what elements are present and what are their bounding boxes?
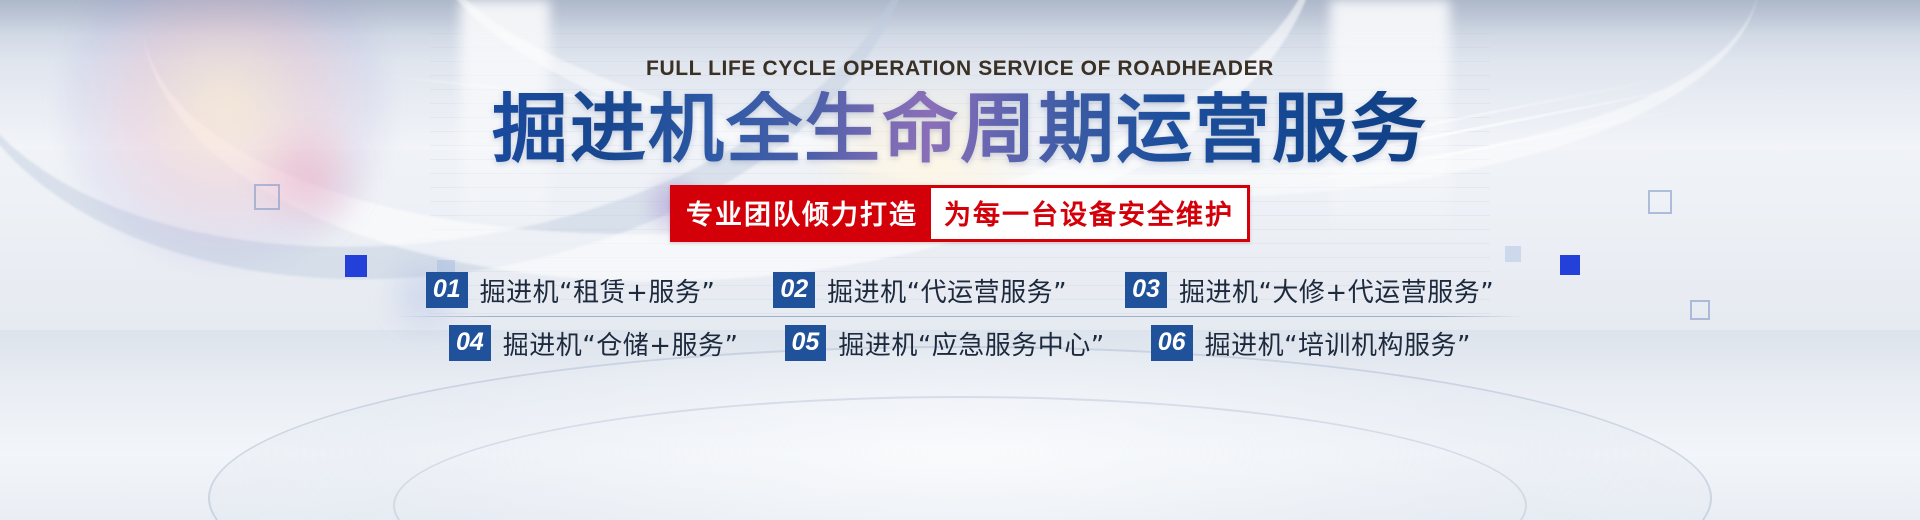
service-label-01: 掘进机“租赁+服务” bbox=[480, 272, 716, 309]
service-number-badge-04: 04 bbox=[449, 325, 491, 361]
banner-eyebrow-english: FULL LIFE CYCLE OPERATION SERVICE OF ROA… bbox=[646, 57, 1274, 81]
roadheader-service-banner: FULL LIFE CYCLE OPERATION SERVICE OF ROA… bbox=[0, 0, 1920, 520]
service-item-06[interactable]: 06 掘进机“培训机构服务” bbox=[1151, 325, 1471, 362]
service-label-06: 掘进机“培训机构服务” bbox=[1205, 325, 1471, 362]
slogan-right-text: 为每一台设备安全维护 bbox=[931, 188, 1247, 239]
service-number-badge-06: 06 bbox=[1151, 325, 1193, 361]
service-row-2: 04 掘进机“仓储+服务” 05 掘进机“应急服务中心” 06 掘进机“培训机构… bbox=[380, 317, 1540, 369]
service-label-03: 掘进机“大修+代运营服务” bbox=[1179, 272, 1494, 309]
slogan-left-text: 专业团队倾力打造 bbox=[673, 188, 931, 239]
banner-headline: 掘进机全生命周期运营服务 bbox=[492, 91, 1428, 167]
service-item-04[interactable]: 04 掘进机“仓储+服务” bbox=[449, 325, 739, 362]
service-item-01[interactable]: 01 掘进机“租赁+服务” bbox=[426, 272, 716, 309]
service-number-badge-05: 05 bbox=[785, 325, 827, 361]
slogan-bar: 专业团队倾力打造 为每一台设备安全维护 bbox=[670, 185, 1250, 242]
service-row-1: 01 掘进机“租赁+服务” 02 掘进机“代运营服务” 03 掘进机“大修+代运… bbox=[380, 264, 1540, 316]
service-label-05: 掘进机“应急服务中心” bbox=[838, 325, 1104, 362]
service-label-02: 掘进机“代运营服务” bbox=[827, 272, 1067, 309]
service-number-badge-02: 02 bbox=[773, 272, 815, 308]
service-item-02[interactable]: 02 掘进机“代运营服务” bbox=[773, 272, 1067, 309]
service-number-badge-03: 03 bbox=[1125, 272, 1167, 308]
service-list: 01 掘进机“租赁+服务” 02 掘进机“代运营服务” 03 掘进机“大修+代运… bbox=[380, 264, 1540, 369]
service-item-03[interactable]: 03 掘进机“大修+代运营服务” bbox=[1125, 272, 1494, 309]
service-label-04: 掘进机“仓储+服务” bbox=[503, 325, 739, 362]
service-item-05[interactable]: 05 掘进机“应急服务中心” bbox=[785, 325, 1105, 362]
banner-content: FULL LIFE CYCLE OPERATION SERVICE OF ROA… bbox=[0, 0, 1920, 520]
service-number-badge-01: 01 bbox=[426, 272, 468, 308]
